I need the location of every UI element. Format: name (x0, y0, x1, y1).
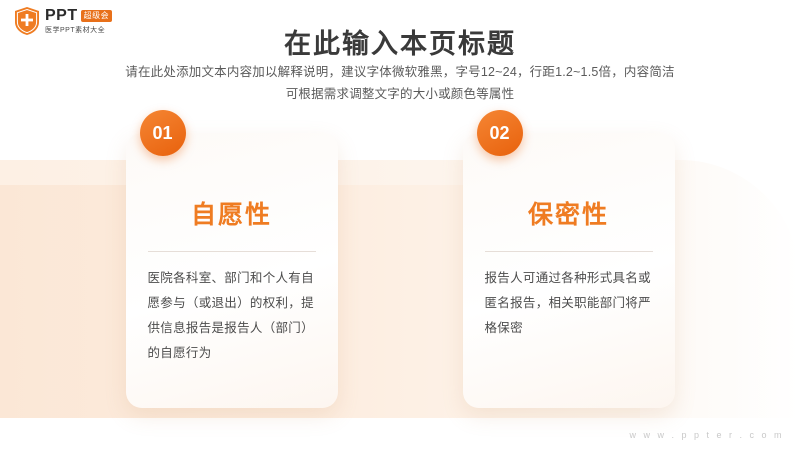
logo-badge: 超级会 (81, 10, 113, 22)
card-heading: 自愿性 (126, 195, 338, 231)
subtitle-line-2: 可根据需求调整文字的大小或颜色等属性 (0, 84, 800, 106)
card-item[interactable]: 01 自愿性 医院各科室、部门和个人有自愿参与（或退出）的权利，提供信息报告是报… (126, 133, 338, 408)
slide: PPT 超级会 医学PPT素材大全 在此输入本页标题 请在此处添加文本内容加以解… (0, 0, 800, 450)
card-divider (485, 251, 653, 252)
card-body-text: 医院各科室、部门和个人有自愿参与（或退出）的权利，提供信息报告是报告人（部门）的… (148, 266, 320, 366)
subtitle-line-1: 请在此处添加文本内容加以解释说明，建议字体微软雅黑，字号12~24，行距1.2~… (0, 62, 800, 84)
card-number-badge: 02 (477, 110, 523, 156)
card-item[interactable]: 02 保密性 报告人可通过各种形式具名或匿名报告，相关职能部门将严格保密 (463, 133, 675, 408)
card-number-badge: 01 (140, 110, 186, 156)
page-title: 在此输入本页标题 (0, 22, 800, 61)
card-heading: 保密性 (463, 195, 675, 231)
footer-watermark: w w w . p p t e r . c o m (629, 430, 784, 440)
card-list: 01 自愿性 医院各科室、部门和个人有自愿参与（或退出）的权利，提供信息报告是报… (0, 133, 800, 408)
card-divider (148, 251, 316, 252)
card-body-text: 报告人可通过各种形式具名或匿名报告，相关职能部门将严格保密 (485, 266, 657, 341)
page-subtitle: 请在此处添加文本内容加以解释说明，建议字体微软雅黑，字号12~24，行距1.2~… (0, 62, 800, 106)
